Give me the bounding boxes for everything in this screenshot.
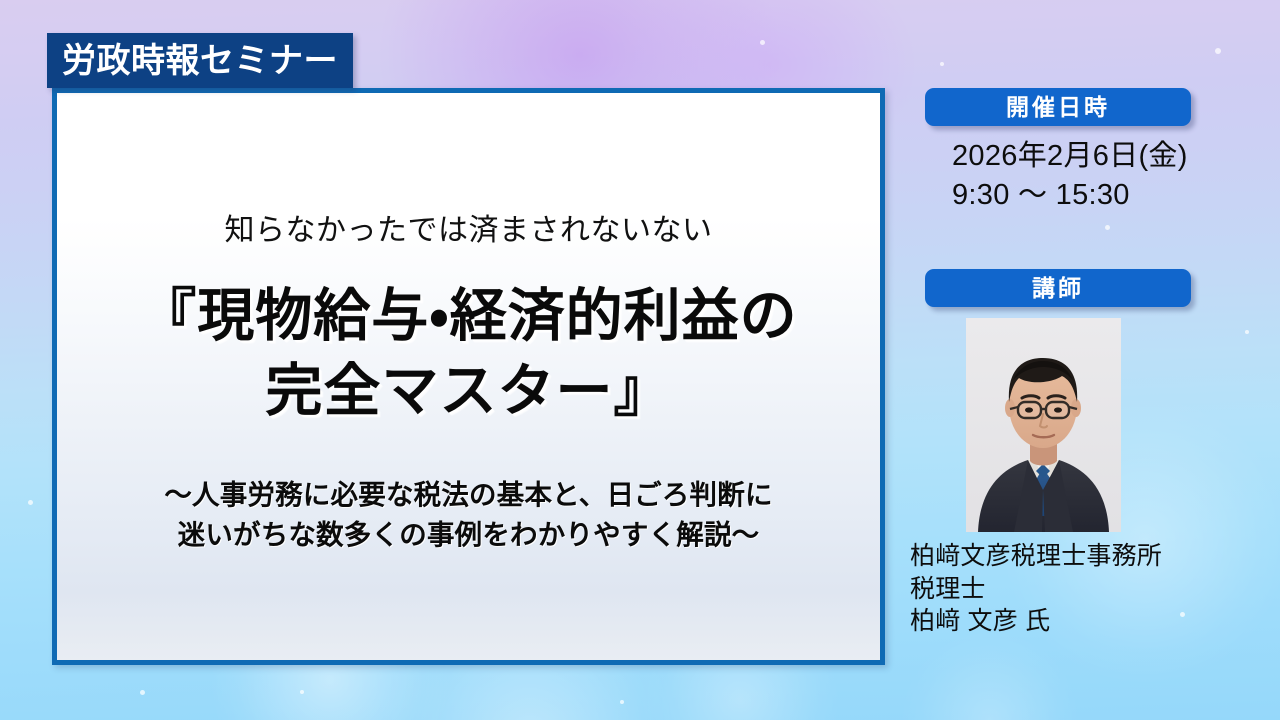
seminar-description-line-1: 〜人事労務に必要な税法の基本と、日ごろ判断に (164, 475, 772, 514)
schedule-time: 9:30 ～ 15:30 (952, 176, 1188, 215)
lecturer-details: 柏﨑文彦税理士事務所 税理士 柏﨑 文彦 氏 (910, 540, 1162, 638)
seminar-poster: 知らなかったでは済まされないない 『現物給与・経済的利益の 完全マスター』 〜人… (0, 0, 1280, 720)
seminar-title: 『現物給与・経済的利益の 完全マスター』 (139, 279, 797, 429)
lecturer-affiliation: 柏﨑文彦税理士事務所 (910, 540, 1162, 573)
sparkle-dot (140, 690, 145, 695)
schedule-details: 2026年2月6日(金) 9:30 ～ 15:30 (952, 137, 1188, 214)
seminar-lead-text: 知らなかったでは済まされないない (225, 205, 713, 249)
seminar-card: 知らなかったでは済まされないない 『現物給与・経済的利益の 完全マスター』 〜人… (52, 88, 885, 665)
lecturer-portrait-illustration (966, 318, 1121, 532)
seminar-title-line-2: 完全マスター』 (139, 354, 797, 429)
schedule-badge-label: 開催日時 (1006, 96, 1110, 119)
lecturer-name: 柏﨑 文彦 氏 (910, 605, 1162, 638)
info-column: 開催日時 2026年2月6日(金) 9:30 ～ 15:30 講師 (900, 0, 1280, 720)
seminar-card-content: 知らなかったでは済まされないない 『現物給与・経済的利益の 完全マスター』 〜人… (57, 93, 880, 660)
schedule-badge: 開催日時 (925, 88, 1191, 126)
seminar-description: 〜人事労務に必要な税法の基本と、日ごろ判断に 迷いがちな数多くの事例をわかりやす… (164, 475, 772, 553)
lecturer-qualification: 税理士 (910, 573, 1162, 606)
lecturer-badge: 講師 (925, 269, 1191, 307)
seminar-description-line-2: 迷いがちな数多くの事例をわかりやすく解説〜 (164, 515, 772, 554)
sparkle-dot (760, 40, 765, 45)
schedule-date: 2026年2月6日(金) (952, 137, 1188, 176)
lecturer-badge-label: 講師 (1032, 277, 1084, 300)
seminar-brand-ribbon: 労政時報セミナー (47, 33, 353, 88)
seminar-brand-label: 労政時報セミナー (62, 44, 338, 78)
sparkle-dot (28, 500, 33, 505)
lecturer-portrait-photo (966, 318, 1121, 532)
sparkle-dot (300, 690, 304, 694)
seminar-title-line-1: 『現物給与・経済的利益の (139, 279, 797, 354)
sparkle-dot (620, 700, 624, 704)
